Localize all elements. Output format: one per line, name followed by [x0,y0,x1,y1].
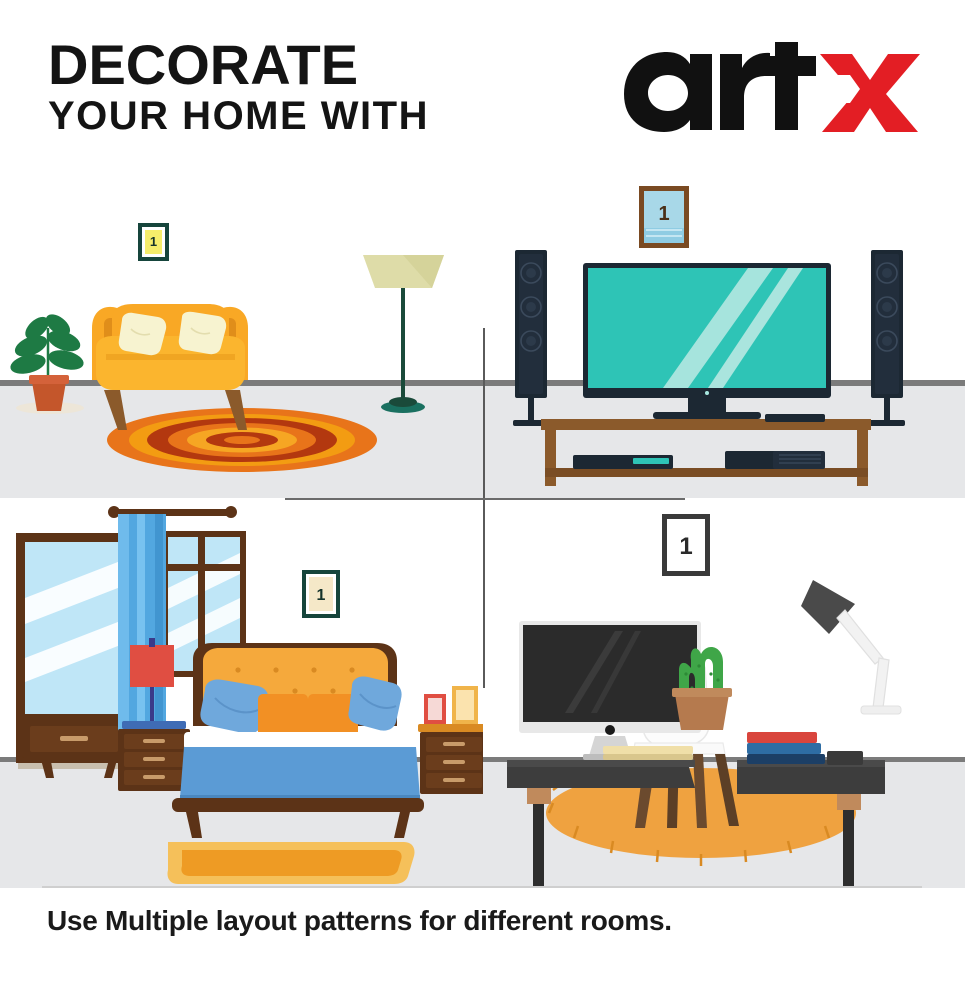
frame-number-label: 1 [317,587,326,604]
throw-pillow-left [119,313,166,355]
brand-logo [620,42,920,134]
tv-base [653,412,761,419]
frame-number-label: 1 [679,533,692,560]
headline-line-1: DECORATE [48,38,429,93]
desk-leg-right [843,810,854,888]
bed-duvet [180,747,420,798]
bed [172,643,424,838]
logo-letter-t [763,42,816,130]
scene-tv-room: 1 [483,168,965,498]
vertical-divider [483,328,485,688]
logo-letter-x [820,54,920,132]
frame-number-label: 1 [150,234,157,249]
horizontal-divider [285,498,685,500]
pillow-blue-right [348,676,401,730]
footer-caption: Use Multiple layout patterns for differe… [47,905,927,937]
page-title: DECORATE YOUR HOME WITH [48,38,429,136]
rectangular-rug [167,842,414,884]
scene-grid: 1 [0,168,965,888]
desk-wood-block-left [527,788,551,804]
standing-mirror [16,533,132,778]
nightstand-left [118,721,190,791]
throw-pillow-right [179,312,226,354]
scene-home-office: 1 [483,498,965,888]
framed-art-office[interactable]: 1 [662,514,710,576]
tv-neck [688,398,726,412]
bed-base [172,798,424,812]
header: DECORATE YOUR HOME WITH [0,0,965,175]
sofa-seat [96,336,245,390]
headline-line-2: YOUR HOME WITH [48,97,429,136]
poster-canvas: DECORATE YOUR HOME WITH [0,0,965,1000]
framed-art-bedroom[interactable]: 1 [302,570,340,618]
monitor-indicator [605,725,615,735]
logo-letter-r [720,53,770,130]
scene-living-room: 1 [0,168,483,498]
footer-divider [42,886,922,888]
desk-wood-block-right [837,794,861,810]
logo-letter-a [624,52,712,132]
scene-bedroom: 1 [0,498,483,888]
frame-number-label: 1 [658,203,669,225]
television [583,263,831,419]
desk-leg-left [533,804,544,888]
framed-art-living-room[interactable]: 1 [138,223,169,261]
framed-art-tv-room[interactable]: 1 [639,186,689,248]
pillow-orange-left [258,694,308,738]
